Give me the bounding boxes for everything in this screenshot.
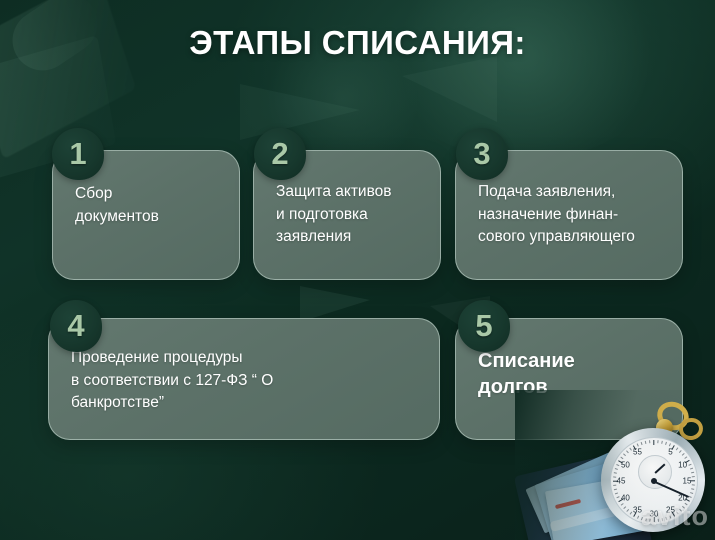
stopwatch-tick	[637, 443, 639, 446]
stopwatch-tick	[665, 442, 667, 445]
stopwatch-tick	[691, 472, 694, 474]
stopwatch-tick	[641, 517, 643, 520]
stopwatch-tick	[690, 468, 693, 470]
step-badge-3: 3	[456, 128, 508, 180]
step-card-1-text: Сбор документов	[75, 183, 223, 228]
stopwatch-tick	[615, 468, 618, 470]
stopwatch-tick	[692, 484, 695, 486]
poster-canvas: ЭТАПЫ СПИСАНИЯ: Сбор документов 1 Защита…	[0, 0, 715, 540]
page-title: ЭТАПЫ СПИСАНИЯ:	[0, 24, 715, 62]
stopwatch-tick	[626, 450, 629, 453]
triangle-shape-2	[240, 84, 360, 140]
stopwatch-subdial	[638, 455, 672, 489]
triangle-shape-3	[402, 56, 497, 122]
stopwatch-tick	[661, 518, 663, 521]
stopwatch-tick	[692, 476, 695, 478]
step-card-3-text: Подача заявления, назначение финан- сово…	[478, 181, 666, 249]
stopwatch-number: 40	[621, 493, 630, 502]
stopwatch-tick	[676, 447, 679, 450]
step-card-4: Проведение процедуры в соответствии с 12…	[48, 318, 440, 440]
stopwatch-subdial-hand	[654, 464, 665, 474]
step-badge-4: 4	[50, 300, 102, 352]
stopwatch-tick	[679, 509, 682, 512]
stopwatch-tick	[629, 511, 632, 514]
stopwatch-tick	[684, 503, 687, 506]
step-card-2-text: Защита активов и подготовка заявления	[276, 181, 424, 249]
triangle-shape-1	[300, 286, 370, 322]
stopwatch-face: 510152025303540455055	[610, 437, 698, 525]
stopwatch-center-pin	[651, 478, 657, 484]
stopwatch-tick	[614, 488, 617, 490]
stopwatch-tick	[657, 440, 659, 443]
step-badge-3-number: 3	[473, 138, 490, 169]
stopwatch-number: 15	[683, 477, 692, 486]
step-badge-1-number: 1	[69, 138, 86, 169]
stopwatch-tick	[623, 453, 626, 456]
stopwatch-tick	[626, 509, 629, 512]
stopwatch-tick	[688, 464, 691, 466]
step-card-4-text: Проведение процедуры в соответствии с 12…	[71, 347, 423, 415]
stopwatch-tick	[669, 515, 671, 518]
stopwatch-tick	[616, 496, 619, 498]
stopwatch-number: 5	[668, 448, 672, 457]
stopwatch-tick	[649, 440, 651, 443]
stopwatch-tick	[616, 464, 619, 466]
step-badge-2: 2	[254, 128, 306, 180]
stopwatch-number: 55	[633, 448, 642, 457]
stopwatch-tick	[691, 488, 694, 490]
stopwatch-tick	[653, 440, 654, 445]
stopwatch-tick	[629, 447, 632, 450]
stopwatch-tick	[637, 515, 639, 518]
stopwatch-tick	[682, 453, 685, 456]
stopwatch-tick	[623, 506, 626, 509]
stopwatch-tick	[614, 472, 617, 474]
stopwatch-tick	[620, 503, 623, 506]
stopwatch-number: 35	[633, 505, 642, 514]
stopwatch-tick	[657, 519, 659, 522]
stopwatch-number: 10	[678, 460, 687, 469]
stopwatch-tick	[679, 450, 682, 453]
stopwatch-tick	[641, 442, 643, 445]
stopwatch-tick	[649, 519, 651, 522]
step-badge-4-number: 4	[67, 310, 84, 341]
stopwatch-tick	[676, 511, 679, 514]
stopwatch-tick	[645, 441, 647, 444]
step-badge-1: 1	[52, 128, 104, 180]
stopwatch-tick	[645, 518, 647, 521]
stopwatch-tick	[684, 456, 687, 459]
stopwatch-tick	[615, 492, 618, 494]
stopwatch-tick	[669, 443, 671, 446]
stopwatch-tick	[690, 492, 693, 494]
step-badge-2-number: 2	[271, 138, 288, 169]
stopwatch-tick	[620, 456, 623, 459]
step-badge-5: 5	[458, 300, 510, 352]
stopwatch-tick	[682, 506, 685, 509]
stopwatch-number: 25	[666, 505, 675, 514]
stopwatch-number: 50	[621, 460, 630, 469]
stopwatch-tick	[665, 517, 667, 520]
wallet-stopwatch-photo: 510152025303540455055	[515, 390, 715, 540]
stopwatch-icon: 510152025303540455055	[601, 428, 705, 532]
step-badge-5-number: 5	[475, 310, 492, 341]
stopwatch-number: 30	[650, 510, 659, 519]
stopwatch-number: 45	[617, 477, 626, 486]
stopwatch-tick	[661, 441, 663, 444]
